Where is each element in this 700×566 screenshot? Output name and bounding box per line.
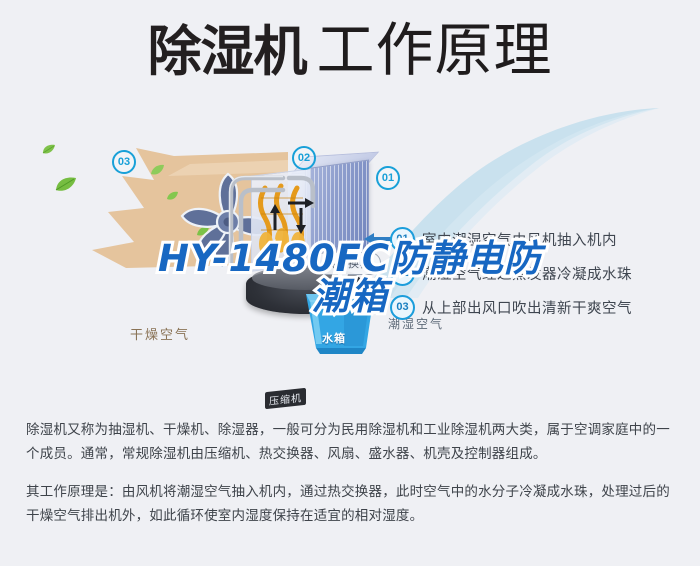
- step-text: 潮湿空气经过蒸发器冷凝成水珠: [422, 263, 632, 284]
- infographic-page: 除湿机工作原理: [0, 0, 700, 566]
- step-text: 室内潮湿空气由风机抽入机内: [422, 229, 617, 250]
- step-number-badge: 02: [390, 261, 415, 286]
- leaf-icon: [150, 163, 165, 181]
- flow-arrow-icon: [269, 204, 281, 235]
- dry-air-label: 干燥空气: [130, 324, 190, 343]
- process-step-list: 01 室内潮湿空气由风机抽入机内 02 潮湿空气经过蒸发器冷凝成水珠 03 从上…: [390, 222, 690, 324]
- paragraph-2: 其工作原理是：由风机将潮湿空气抽入机内，通过热交换器，此时空气中的水分子冷凝成水…: [26, 480, 682, 528]
- flow-arrow-icon: [295, 208, 307, 239]
- description-text: 除湿机又称为抽湿机、干燥机、除湿器，一般可分为民用除湿机和工业除湿机两大类，属于…: [26, 418, 682, 528]
- compressor-label: 压缩机: [265, 388, 306, 409]
- leaf-icon: [55, 176, 77, 197]
- step-number-badge: 01: [390, 227, 415, 252]
- heat-exchanger-callout: 热交换器: [315, 252, 381, 275]
- page-title-part-1: 除湿机: [147, 20, 306, 83]
- diagram-marker-01: 01: [376, 166, 400, 190]
- water-tank-icon: [300, 290, 382, 356]
- list-item: 01 室内潮湿空气由风机抽入机内: [390, 222, 690, 256]
- diagram-marker-03: 03: [112, 150, 136, 174]
- water-tank-label: 水箱: [322, 330, 346, 346]
- step-text: 从上部出风口吹出清新干爽空气: [422, 297, 632, 318]
- page-title: 除湿机工作原理: [0, 22, 700, 80]
- page-title-part-2: 工作原理: [316, 18, 552, 83]
- leaf-icon: [42, 142, 56, 160]
- list-item: 02 潮湿空气经过蒸发器冷凝成水珠: [390, 256, 690, 290]
- list-item: 03 从上部出风口吹出清新干爽空气: [390, 290, 690, 324]
- diagram-marker-02: 02: [292, 146, 316, 170]
- paragraph-1: 除湿机又称为抽湿机、干燥机、除湿器，一般可分为民用除湿机和工业除湿机两大类，属于…: [26, 418, 682, 466]
- step-number-badge: 03: [390, 295, 415, 320]
